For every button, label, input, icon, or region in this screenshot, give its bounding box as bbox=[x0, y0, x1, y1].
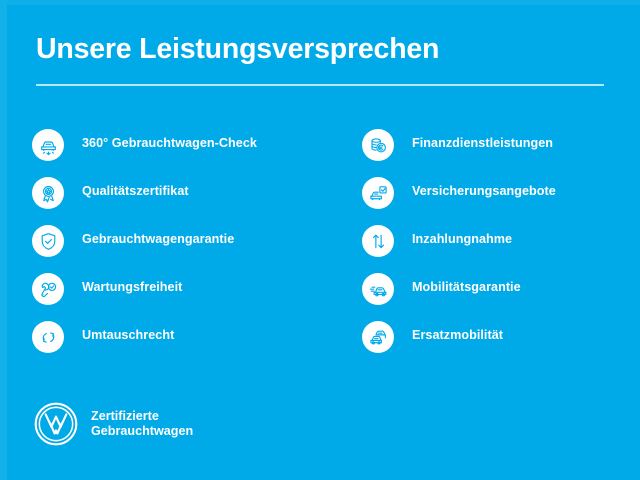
title-divider bbox=[36, 84, 604, 86]
list-item-label: Versicherungsangebote bbox=[412, 184, 556, 198]
list-item: Mobilitätsgarantie bbox=[362, 273, 556, 321]
brand-lockup: Zertifizierte Gebrauchtwagen bbox=[33, 401, 193, 447]
list-item: Wartungsfreiheit bbox=[32, 273, 257, 321]
list-item-label: Finanzdienstleistungen bbox=[412, 136, 553, 150]
car-check-icon bbox=[32, 129, 64, 161]
list-item-label: Umtauschrecht bbox=[82, 328, 174, 342]
wrench-check-icon bbox=[32, 273, 64, 305]
list-item: Finanzdienstleistungen bbox=[362, 129, 556, 177]
two-cars-icon bbox=[362, 321, 394, 353]
list-item: Gebrauchtwagengarantie bbox=[32, 225, 257, 273]
car-checkbox-icon bbox=[362, 177, 394, 209]
benefits-left-column: 360° Gebrauchtwagen-Check Qualitätszerti… bbox=[32, 129, 257, 369]
slide-canvas: Unsere Leistungsversprechen 360° Geb bbox=[0, 0, 640, 480]
coins-euro-icon bbox=[362, 129, 394, 161]
list-item: Qualitätszertifikat bbox=[32, 177, 257, 225]
up-down-arrows-icon bbox=[362, 225, 394, 257]
top-edge-band bbox=[0, 0, 640, 5]
list-item: Inzahlungnahme bbox=[362, 225, 556, 273]
list-item: Ersatzmobilität bbox=[362, 321, 556, 369]
list-item-label: Wartungsfreiheit bbox=[82, 280, 182, 294]
list-item: Versicherungsangebote bbox=[362, 177, 556, 225]
award-rosette-icon bbox=[32, 177, 64, 209]
benefits-right-column: Finanzdienstleistungen Versicherungsange… bbox=[362, 129, 556, 369]
brand-line-1: Zertifizierte bbox=[91, 409, 159, 423]
list-item-label: Inzahlungnahme bbox=[412, 232, 512, 246]
shield-check-icon bbox=[32, 225, 64, 257]
brand-line-2: Gebrauchtwagen bbox=[91, 424, 193, 438]
exchange-arrows-icon bbox=[32, 321, 64, 353]
list-item-label: Ersatzmobilität bbox=[412, 328, 503, 342]
list-item-label: 360° Gebrauchtwagen-Check bbox=[82, 136, 257, 150]
list-item: 360° Gebrauchtwagen-Check bbox=[32, 129, 257, 177]
list-item-label: Gebrauchtwagengarantie bbox=[82, 232, 234, 246]
brand-text: Zertifizierte Gebrauchtwagen bbox=[91, 409, 193, 440]
car-motion-icon bbox=[362, 273, 394, 305]
page-title: Unsere Leistungsversprechen bbox=[36, 33, 439, 66]
volkswagen-logo-icon bbox=[33, 401, 79, 447]
list-item-label: Mobilitätsgarantie bbox=[412, 280, 521, 294]
list-item-label: Qualitätszertifikat bbox=[82, 184, 189, 198]
list-item: Umtauschrecht bbox=[32, 321, 257, 369]
left-edge-band bbox=[0, 0, 7, 480]
